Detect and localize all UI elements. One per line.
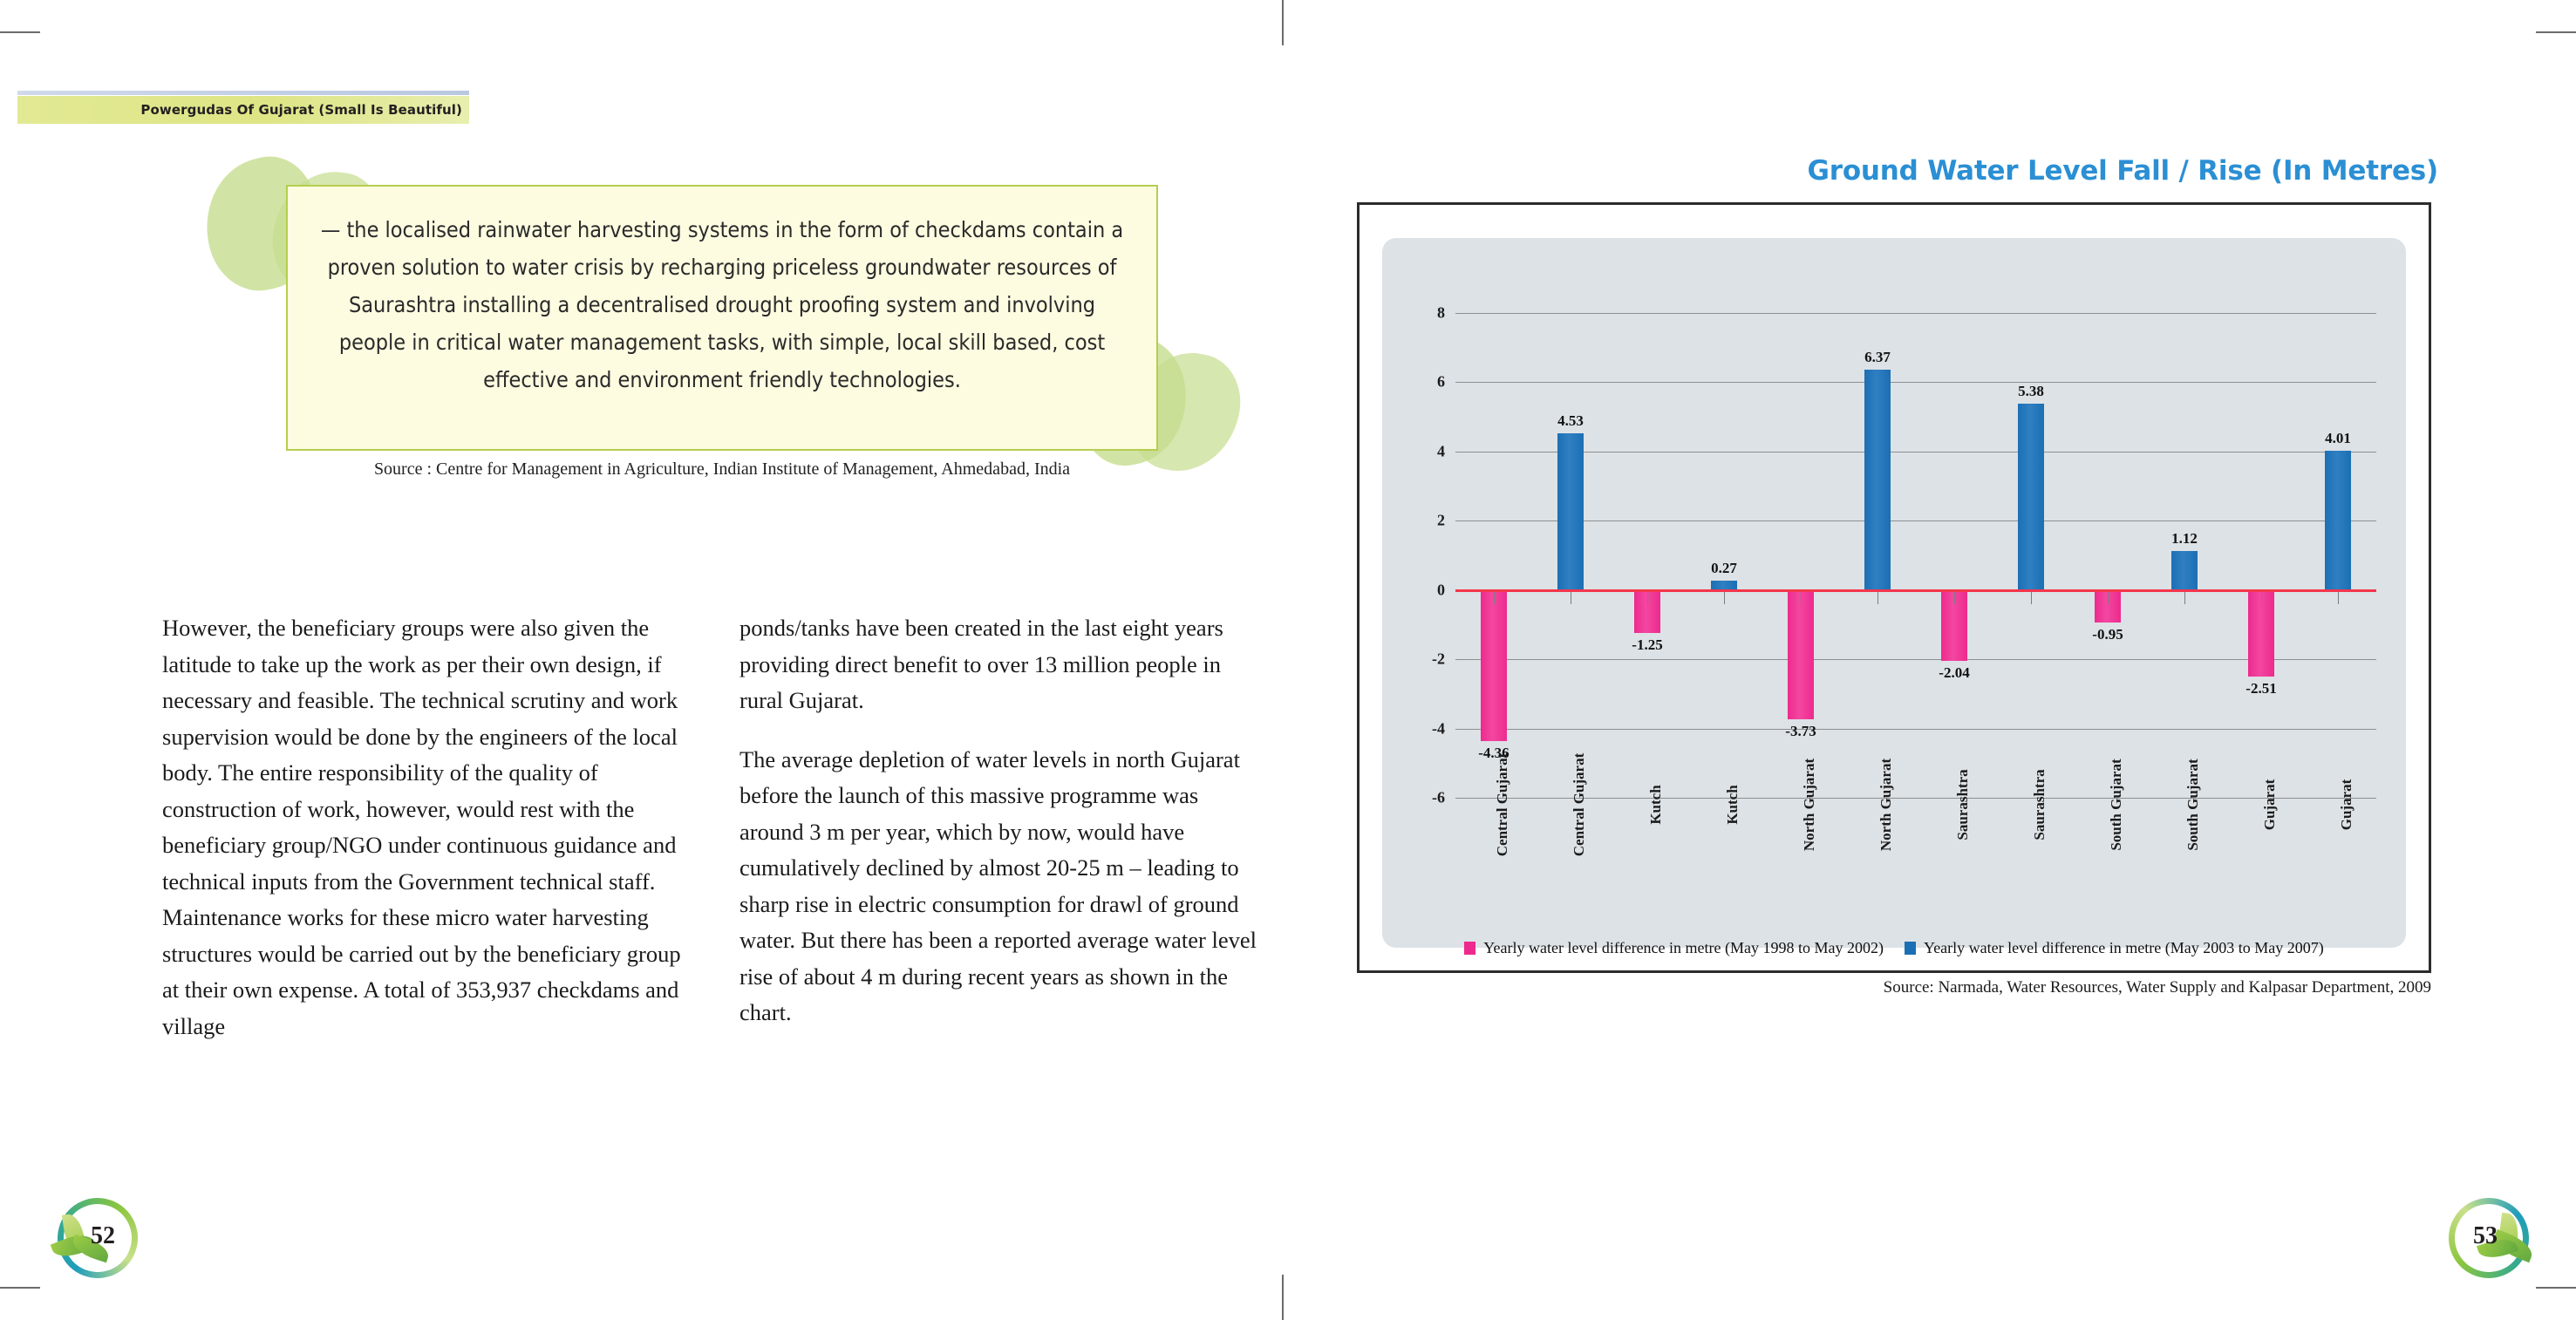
bar-group: 4.53	[1536, 313, 1605, 798]
legend-label: Yearly water level difference in metre (…	[1924, 939, 2324, 957]
x-axis-tick	[2261, 592, 2262, 604]
page-number: 53	[2473, 1222, 2498, 1250]
bar-group: -1.25	[1612, 313, 1682, 798]
x-axis-tick	[1801, 592, 1802, 604]
x-axis-tick	[2108, 592, 2109, 604]
bar-group: 4.01	[2303, 313, 2373, 798]
legend-item: Yearly water level difference in metre (…	[1464, 939, 1884, 957]
x-axis-tick	[1877, 592, 1878, 604]
pull-quote-text: — the localised rainwater harvesting sys…	[288, 187, 1156, 398]
bar-value-label: 1.12	[2171, 530, 2198, 548]
chart-bar	[1864, 370, 1891, 590]
chart-title: Ground Water Level Fall / Rise (In Metre…	[1775, 155, 2438, 187]
page-number-badge-right: 53	[2438, 1191, 2576, 1296]
chart-plot-panel: 86420-2-4-6 -4.364.53-1.250.27-3.736.37-…	[1382, 238, 2406, 948]
bar-value-label: -2.51	[2245, 680, 2276, 697]
bar-value-label: -2.04	[1939, 664, 1969, 682]
body-paragraph: The average depletion of water levels in…	[739, 742, 1263, 1031]
bar-group: 1.12	[2150, 313, 2219, 798]
y-axis-tick-label: -6	[1432, 789, 1445, 807]
y-axis-tick-label: 4	[1437, 442, 1445, 460]
chart-bar	[2171, 551, 2198, 589]
legend-item: Yearly water level difference in metre (…	[1905, 939, 2324, 957]
bar-value-label: 5.38	[2018, 383, 2044, 400]
chart-plot-area: 86420-2-4-6 -4.364.53-1.250.27-3.736.37-…	[1455, 313, 2376, 948]
running-head-text: Powergudas Of Gujarat (Small Is Beautifu…	[140, 102, 462, 118]
pull-quote-source: Source : Centre for Management in Agricu…	[286, 459, 1158, 480]
x-axis-tick-label: North Gujarat	[1877, 759, 1895, 851]
x-axis-tick	[1494, 592, 1495, 604]
bar-group: 5.38	[1996, 313, 2066, 798]
bar-group: -2.51	[2226, 313, 2296, 798]
running-head-rule	[17, 91, 469, 95]
x-axis-tick-label: Central Gujarat	[1571, 753, 1588, 857]
legend-label: Yearly water level difference in metre (…	[1483, 939, 1884, 957]
x-axis-tick-label: North Gujarat	[1801, 759, 1818, 851]
page-number: 52	[91, 1222, 115, 1250]
y-axis-tick-label: -2	[1432, 650, 1445, 669]
x-axis-tick-label: South Gujarat	[2108, 759, 2125, 850]
x-axis-tick	[2031, 592, 2032, 604]
x-axis-tick	[2338, 592, 2339, 604]
legend-swatch-icon	[1905, 942, 1916, 955]
x-axis-tick	[1954, 592, 1955, 604]
document-spread: Powergudas Of Gujarat (Small Is Beautifu…	[0, 0, 2576, 1320]
x-axis-tick-label: South Gujarat	[2184, 759, 2202, 850]
bar-value-label: 4.01	[2325, 430, 2351, 447]
bar-value-label: -0.95	[2092, 626, 2123, 643]
body-column-right: ponds/tanks have been created in the las…	[739, 610, 1263, 1054]
chart-zero-line	[1455, 589, 2376, 592]
bar-value-label: -3.73	[1785, 723, 1816, 740]
chart-axis-zone: 86420-2-4-6 -4.364.53-1.250.27-3.736.37-…	[1455, 313, 2376, 798]
chart-bar	[2018, 404, 2044, 590]
legend-swatch-icon	[1464, 942, 1475, 955]
bar-group: -4.36	[1459, 313, 1529, 798]
bar-group: 0.27	[1689, 313, 1759, 798]
chart-bar	[2325, 451, 2351, 589]
x-axis-tick-label: Central Gujarat	[1494, 753, 1511, 857]
pull-quote-box: — the localised rainwater harvesting sys…	[286, 185, 1158, 451]
crop-mark-bottom	[1282, 1275, 1284, 1320]
crop-mark-left-bottom	[0, 1287, 40, 1289]
page-number-badge-left: 52	[40, 1191, 180, 1296]
chart-frame: 86420-2-4-6 -4.364.53-1.250.27-3.736.37-…	[1357, 202, 2431, 973]
x-axis-tick-label: Gujarat	[2338, 779, 2355, 831]
crop-mark-right-top	[2536, 31, 2576, 33]
running-head: Powergudas Of Gujarat (Small Is Beautifu…	[17, 96, 469, 124]
chart-bar	[1481, 590, 1507, 741]
chart-bar	[1557, 433, 1584, 590]
y-axis-tick-label: 0	[1437, 581, 1445, 599]
chart-bar	[1788, 590, 1814, 719]
body-paragraph: ponds/tanks have been created in the las…	[739, 610, 1263, 719]
y-axis-tick-label: 6	[1437, 373, 1445, 391]
crop-mark-top	[1282, 0, 1284, 45]
bar-value-label: -1.25	[1632, 636, 1662, 654]
chart-bars: -4.364.53-1.250.27-3.736.37-2.045.38-0.9…	[1455, 313, 2376, 798]
bar-value-label: 6.37	[1864, 349, 1891, 366]
x-axis-tick-label: Gujarat	[2261, 779, 2279, 831]
x-axis-tick-label: Kutch	[1647, 785, 1665, 824]
body-column-left: However, the beneficiary groups were als…	[162, 610, 699, 1067]
x-axis-tick-label: Kutch	[1724, 785, 1741, 824]
x-axis-tick	[1647, 592, 1648, 604]
y-axis-tick-label: 8	[1437, 304, 1445, 323]
chart-source-note: Source: Narmada, Water Resources, Water …	[1357, 978, 2431, 997]
bar-group: -3.73	[1766, 313, 1836, 798]
bar-group: -0.95	[2073, 313, 2143, 798]
x-axis-tick	[2184, 592, 2185, 604]
x-axis-tick-label: Saurashtra	[1954, 769, 1972, 840]
bar-group: -2.04	[1919, 313, 1989, 798]
y-axis-tick-label: 2	[1437, 512, 1445, 530]
pull-quote-block: — the localised rainwater harvesting sys…	[206, 159, 1252, 507]
x-axis-tick	[1724, 592, 1725, 604]
crop-mark-left-top	[0, 31, 40, 33]
chart-legend: Yearly water level difference in metre (…	[1382, 930, 2406, 965]
bar-group: 6.37	[1843, 313, 1912, 798]
x-axis-tick-label: Saurashtra	[2031, 769, 2048, 840]
bar-value-label: 0.27	[1711, 560, 1737, 577]
y-axis-tick-label: -4	[1432, 719, 1445, 738]
x-axis-tick	[1571, 592, 1571, 604]
bar-value-label: 4.53	[1557, 412, 1584, 430]
body-paragraph: However, the beneficiary groups were als…	[162, 610, 699, 1044]
